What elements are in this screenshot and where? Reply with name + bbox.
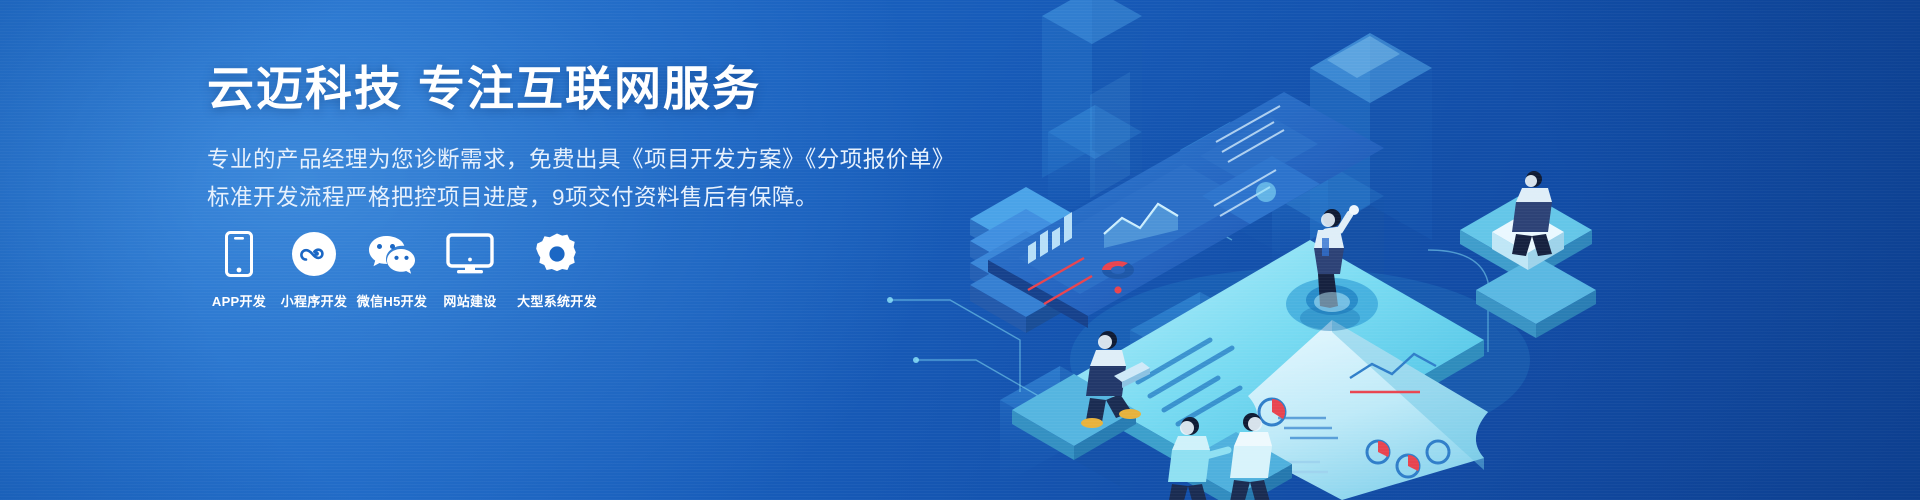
service-item-wechat-h5[interactable]: 微信H5开发 [353,230,431,310]
service-item-app[interactable]: APP开发 [203,230,275,310]
mini-program-icon [292,230,336,278]
monitor-icon [446,230,494,278]
service-item-large-system[interactable]: 大型系统开发 [509,230,605,310]
service-label-large-system: 大型系统开发 [517,291,597,310]
service-label-miniprogram: 小程序开发 [281,291,348,310]
page-title: 云迈科技 专注互联网服务 [207,60,907,119]
hero-copy: 云迈科技 专注互联网服务 专业的产品经理为您诊断需求，免费出具《项目开发方案》《… [207,60,907,218]
hero-illustration [880,0,1920,500]
service-item-miniprogram[interactable]: 小程序开发 [275,230,353,310]
hero-banner: 云迈科技 专注互联网服务 专业的产品经理为您诊断需求，免费出具《项目开发方案》《… [0,0,1920,500]
service-icon-row: APP开发 小程序开发 [203,230,605,310]
service-item-website[interactable]: 网站建设 [431,230,509,310]
service-label-website: 网站建设 [443,291,496,310]
wechat-icon [367,230,417,278]
service-label-app: APP开发 [212,291,266,310]
hero-subtitle-line-1: 专业的产品经理为您诊断需求，免费出具《项目开发方案》《分项报价单》 [207,141,907,180]
service-label-wechat-h5: 微信H5开发 [357,291,427,310]
hero-subtitle-line-2: 标准开发流程严格把控项目进度，9项交付资料售后有保障。 [207,179,907,218]
mobile-phone-icon [225,230,253,278]
gear-icon [535,230,579,278]
